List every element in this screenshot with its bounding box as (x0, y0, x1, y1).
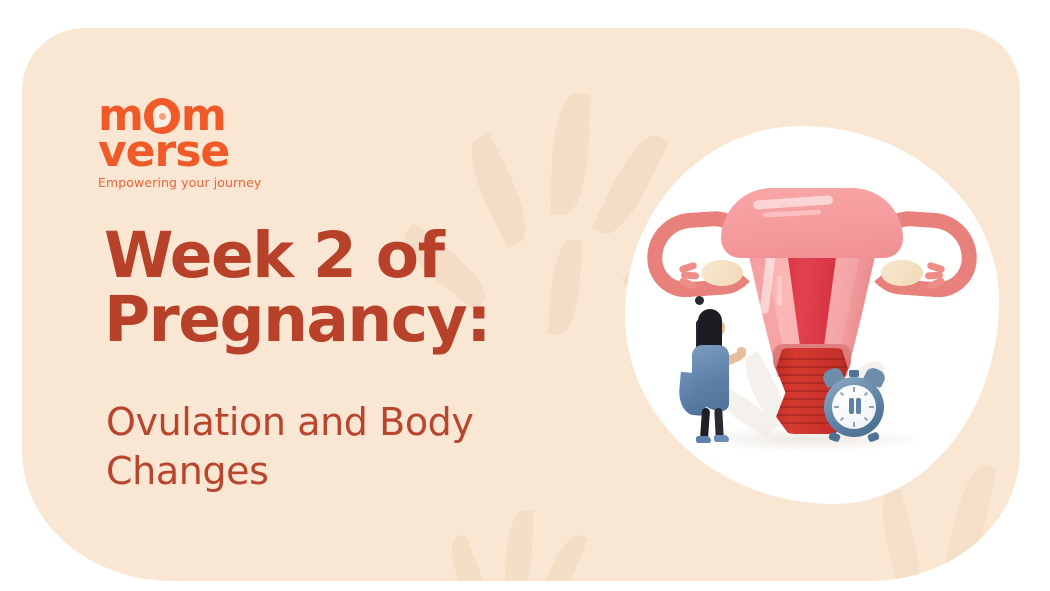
egg-dot-icon (695, 296, 704, 305)
clock-face (832, 385, 876, 429)
page-subtitle: Ovulation and Body Changes (106, 398, 536, 495)
slide-canvas: m m verse Empowering your journey Week 2… (0, 0, 1050, 591)
logo-wordmark-line2: verse (98, 132, 338, 172)
hero-card: m m verse Empowering your journey Week 2… (22, 28, 1020, 581)
clock-hand-1 (849, 398, 854, 414)
woman-shoe-right (714, 435, 729, 442)
clock-top-button (849, 370, 859, 377)
ovary-right (881, 260, 923, 286)
illustration-blob (625, 126, 999, 504)
woman-hand (737, 347, 746, 358)
clock-hand-2 (856, 398, 861, 414)
leaf-decor-bottom (452, 498, 672, 581)
woman-figure (683, 309, 743, 444)
clock-body (824, 377, 884, 437)
ovary-left (701, 260, 743, 286)
brand-logo[interactable]: m m verse (98, 96, 338, 173)
droplet-in-circle-icon (144, 98, 180, 134)
woman-shoe-left (696, 436, 711, 443)
brand-tagline: Empowering your journey (98, 175, 261, 190)
uterus-highlight-2 (777, 276, 782, 306)
page-title: Week 2 of Pregnancy: (104, 224, 574, 353)
clock-foot-right (867, 431, 880, 442)
alarm-clock-icon (821, 369, 887, 441)
reproductive-system-illustration (625, 126, 999, 504)
